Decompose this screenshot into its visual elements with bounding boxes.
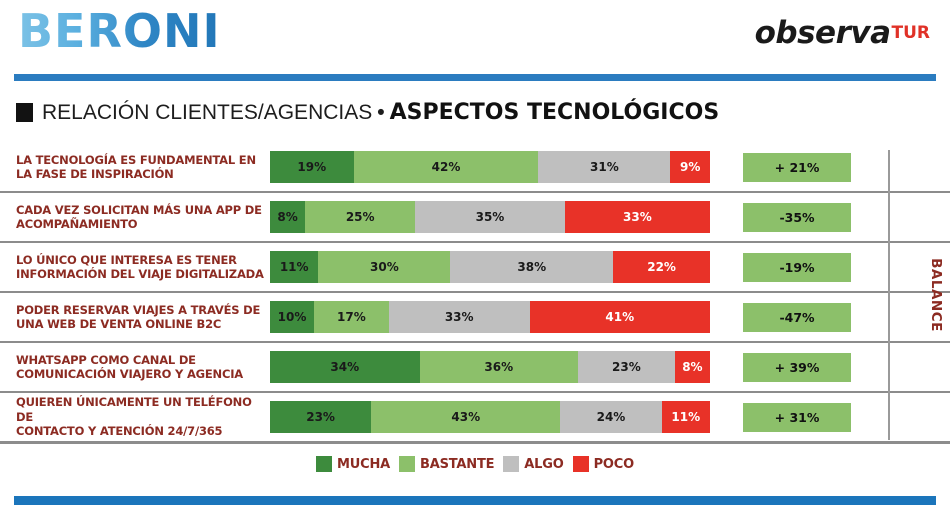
bar-segment-mucha: 10% xyxy=(270,301,314,333)
bar-segment-bastante: 36% xyxy=(420,351,578,383)
row-label: PODER RESERVAR VIAJES A TRAVÉS DE UNA WE… xyxy=(0,303,270,332)
bar-segment-algo: 33% xyxy=(389,301,530,333)
stacked-bar: 11% 30% 38% 22% xyxy=(270,251,710,283)
row-label-line2: UNA WEB DE VENTA ONLINE B2C xyxy=(16,317,270,331)
table-row: CADA VEZ SOLICITAN MÁS UNA APP DE ACOMPA… xyxy=(0,193,950,243)
legend-swatch-icon xyxy=(503,456,519,472)
stacked-bar: 10% 17% 33% 41% xyxy=(270,301,710,333)
bar-segment-mucha: 8% xyxy=(270,201,305,233)
legend-item-mucha: MUCHA xyxy=(316,456,390,472)
balance-axis: BALANCE xyxy=(888,150,928,440)
row-label: QUIEREN ÚNICAMENTE UN TELÉFONO DE CONTAC… xyxy=(0,395,270,438)
bar-segment-algo: 38% xyxy=(450,251,613,283)
balance-badge: + 21% xyxy=(743,153,851,182)
row-label-line1: LA TECNOLOGÍA ES FUNDAMENTAL EN xyxy=(16,153,270,167)
bar-segment-bastante: 43% xyxy=(371,401,560,433)
page-title-light: RELACIÓN CLIENTES/AGENCIAS xyxy=(42,101,372,125)
observatur-logo: observaTUR xyxy=(755,18,930,49)
beroni-logo: BERONI xyxy=(18,8,221,54)
table-row: LO ÚNICO QUE INTERESA ES TENER INFORMACI… xyxy=(0,243,950,293)
table-row: PODER RESERVAR VIAJES A TRAVÉS DE UNA WE… xyxy=(0,293,950,343)
balance-axis-label: BALANCE xyxy=(928,258,944,332)
table-row: WHATSAPP COMO CANAL DE COMUNICACIÓN VIAJ… xyxy=(0,343,950,393)
legend-item-bastante: BASTANTE xyxy=(399,456,494,472)
row-label-line2: CONTACTO Y ATENCIÓN 24/7/365 xyxy=(16,424,270,438)
bar-segment-algo: 31% xyxy=(538,151,670,183)
legend-label: MUCHA xyxy=(337,457,390,472)
stacked-bar-chart: LA TECNOLOGÍA ES FUNDAMENTAL EN LA FASE … xyxy=(0,143,950,444)
legend-label: BASTANTE xyxy=(420,457,494,472)
row-label-line2: ACOMPAÑAMIENTO xyxy=(16,217,270,231)
bar-segment-mucha: 19% xyxy=(270,151,354,183)
balance-badge: + 31% xyxy=(743,403,851,432)
row-label: LO ÚNICO QUE INTERESA ES TENER INFORMACI… xyxy=(0,253,270,282)
header-divider-rule xyxy=(14,74,936,81)
row-label: LA TECNOLOGÍA ES FUNDAMENTAL EN LA FASE … xyxy=(0,153,270,182)
row-label-line1: PODER RESERVAR VIAJES A TRAVÉS DE xyxy=(16,303,270,317)
balance-badge: + 39% xyxy=(743,353,851,382)
table-row: LA TECNOLOGÍA ES FUNDAMENTAL EN LA FASE … xyxy=(0,143,950,193)
observatur-logo-suffix: TUR xyxy=(892,23,931,43)
bar-segment-poco: 8% xyxy=(675,351,710,383)
bar-segment-poco: 22% xyxy=(613,251,710,283)
balance-axis-line xyxy=(888,150,890,440)
bar-segment-bastante: 17% xyxy=(314,301,389,333)
bar-segment-poco: 33% xyxy=(565,201,710,233)
row-label: CADA VEZ SOLICITAN MÁS UNA APP DE ACOMPA… xyxy=(0,203,270,232)
bar-segment-mucha: 23% xyxy=(270,401,371,433)
row-label-line2: COMUNICACIÓN VIAJERO Y AGENCIA xyxy=(16,367,270,381)
stacked-bar: 19% 42% 31% 9% xyxy=(270,151,710,183)
stacked-bar: 34% 36% 23% 8% xyxy=(270,351,710,383)
bar-segment-poco: 41% xyxy=(530,301,710,333)
bullet-square-icon xyxy=(16,103,33,122)
stacked-bar: 8% 25% 35% 33% xyxy=(270,201,710,233)
row-label: WHATSAPP COMO CANAL DE COMUNICACIÓN VIAJ… xyxy=(0,353,270,382)
legend-label: POCO xyxy=(594,457,634,472)
bar-segment-algo: 35% xyxy=(415,201,565,233)
bar-segment-poco: 9% xyxy=(670,151,710,183)
balance-badge: -35% xyxy=(743,203,851,232)
bar-segment-poco: 11% xyxy=(662,401,710,433)
legend-item-poco: POCO xyxy=(573,456,634,472)
row-label-line2: INFORMACIÓN DEL VIAJE DIGITALIZADA xyxy=(16,267,270,281)
row-label-line2: LA FASE DE INSPIRACIÓN xyxy=(16,167,270,181)
legend-swatch-icon xyxy=(316,456,332,472)
footer-divider-rule xyxy=(14,496,936,505)
bar-segment-bastante: 25% xyxy=(305,201,415,233)
bar-segment-mucha: 11% xyxy=(270,251,318,283)
bar-segment-bastante: 30% xyxy=(318,251,450,283)
row-label-line1: CADA VEZ SOLICITAN MÁS UNA APP DE xyxy=(16,203,270,217)
bar-segment-algo: 23% xyxy=(578,351,675,383)
page-header: BERONI observaTUR xyxy=(0,0,950,92)
bar-segment-bastante: 42% xyxy=(354,151,539,183)
page-title-separator: • xyxy=(377,101,384,125)
page-title: RELACIÓN CLIENTES/AGENCIAS • ASPECTOS TE… xyxy=(16,100,719,125)
legend-swatch-icon xyxy=(399,456,415,472)
chart-legend: MUCHA BASTANTE ALGO POCO xyxy=(0,456,950,472)
page-title-bold: ASPECTOS TECNOLÓGICOS xyxy=(390,100,720,125)
row-label-line1: QUIEREN ÚNICAMENTE UN TELÉFONO DE xyxy=(16,395,270,424)
legend-swatch-icon xyxy=(573,456,589,472)
table-row: QUIEREN ÚNICAMENTE UN TELÉFONO DE CONTAC… xyxy=(0,393,950,444)
bar-segment-mucha: 34% xyxy=(270,351,420,383)
stacked-bar: 23% 43% 24% 11% xyxy=(270,401,710,433)
bar-segment-algo: 24% xyxy=(560,401,661,433)
observatur-logo-main: observa xyxy=(755,15,891,51)
legend-item-algo: ALGO xyxy=(503,456,563,472)
row-label-line1: WHATSAPP COMO CANAL DE xyxy=(16,353,270,367)
row-label-line1: LO ÚNICO QUE INTERESA ES TENER xyxy=(16,253,270,267)
legend-label: ALGO xyxy=(524,457,563,472)
balance-badge: -47% xyxy=(743,303,851,332)
balance-badge: -19% xyxy=(743,253,851,282)
